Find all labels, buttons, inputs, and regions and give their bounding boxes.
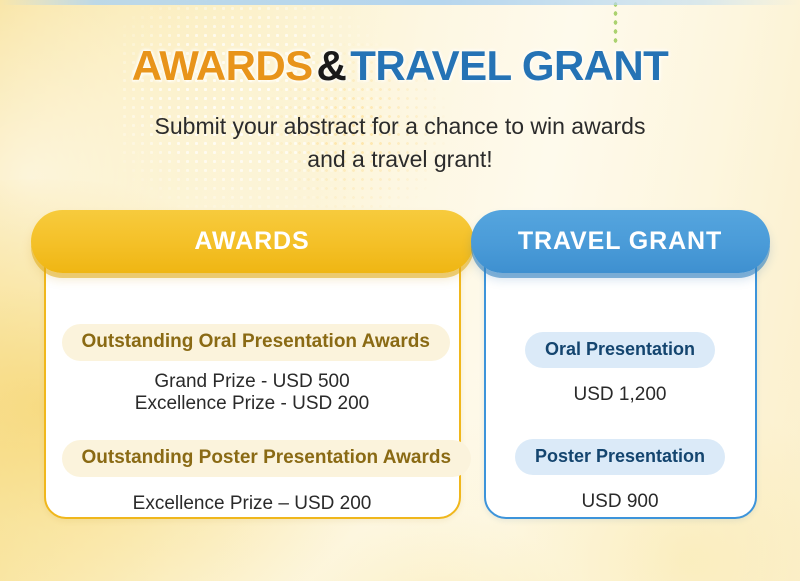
awards-group-poster: Outstanding Poster Presentation Awards E… — [62, 440, 443, 515]
awards-oral-prize-2: Excellence Prize - USD 200 — [62, 393, 443, 415]
awards-oral-label-pill: Outstanding Oral Presentation Awards — [62, 324, 450, 361]
travel-grant-card: TRAVEL GRANT Oral Presentation USD 1,200… — [484, 223, 757, 519]
travel-group-oral: Oral Presentation USD 1,200 — [502, 332, 739, 406]
title-awards-text: AWARDS — [132, 42, 313, 89]
travel-oral-label-pill: Oral Presentation — [525, 332, 715, 368]
travel-poster-amount: USD 900 — [502, 491, 739, 513]
title-travel-grant-text: TRAVEL GRANT — [350, 42, 668, 89]
travel-group-poster: Poster Presentation USD 900 — [502, 439, 739, 513]
awards-card: AWARDS Outstanding Oral Presentation Awa… — [44, 223, 461, 519]
awards-card-body: Outstanding Oral Presentation Awards Gra… — [46, 324, 459, 515]
awards-travel-grant-banner: AWARDS&TRAVEL GRANT Submit your abstract… — [0, 0, 800, 581]
travel-grant-card-header: TRAVEL GRANT — [471, 210, 770, 273]
awards-oral-prize-1: Grand Prize - USD 500 — [62, 371, 443, 393]
awards-group-oral: Outstanding Oral Presentation Awards Gra… — [62, 324, 443, 415]
subtitle-line-2: and a travel grant! — [0, 143, 800, 176]
travel-grant-card-body: Oral Presentation USD 1,200 Poster Prese… — [486, 332, 755, 513]
page-subtitle: Submit your abstract for a chance to win… — [0, 110, 800, 177]
cards-container: AWARDS Outstanding Oral Presentation Awa… — [0, 223, 800, 519]
travel-grant-card-header-label: TRAVEL GRANT — [518, 227, 722, 256]
subtitle-line-1: Submit your abstract for a chance to win… — [0, 110, 800, 143]
travel-poster-label-pill: Poster Presentation — [515, 439, 725, 475]
awards-poster-label-pill: Outstanding Poster Presentation Awards — [62, 440, 472, 477]
awards-card-header: AWARDS — [31, 210, 474, 273]
travel-oral-amount: USD 1,200 — [502, 384, 739, 406]
title-ampersand: & — [313, 42, 351, 89]
awards-card-header-label: AWARDS — [194, 227, 309, 256]
page-title: AWARDS&TRAVEL GRANT — [0, 0, 800, 88]
awards-poster-prize-1: Excellence Prize – USD 200 — [62, 493, 443, 515]
